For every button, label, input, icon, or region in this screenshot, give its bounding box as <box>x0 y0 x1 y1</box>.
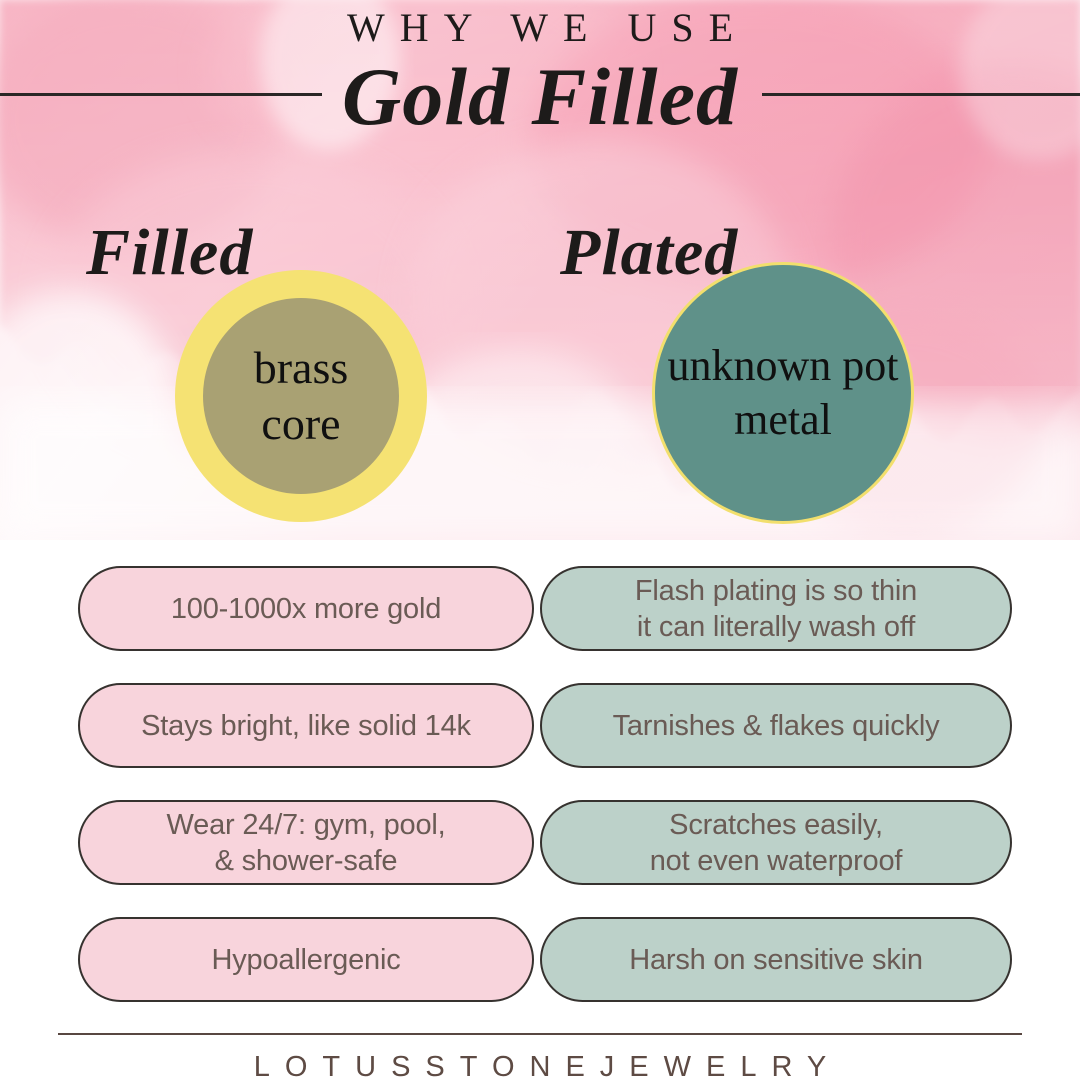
column-label-plated: Plated <box>560 218 738 288</box>
filled-core: brass core <box>203 298 399 494</box>
pill-left-4[interactable]: Hypoallergenic <box>78 917 534 1002</box>
header-title-row: Gold Filled <box>0 52 1080 142</box>
brand-name: LOTUSSTONEJEWELRY <box>0 1050 1080 1080</box>
filled-ring: brass core <box>175 270 427 522</box>
infographic-canvas: WHY WE USE Gold Filled Filled Plated bra… <box>0 0 1080 1080</box>
pill-left-1[interactable]: 100-1000x more gold <box>78 566 534 651</box>
pill-row: Wear 24/7: gym, pool,& shower-safeScratc… <box>0 800 1080 885</box>
pill-left-2[interactable]: Stays bright, like solid 14k <box>78 683 534 768</box>
header-kicker: WHY WE USE <box>0 6 1080 50</box>
page-title: Gold Filled <box>0 52 1080 142</box>
header: WHY WE USE Gold Filled <box>0 0 1080 150</box>
pill-left-3[interactable]: Wear 24/7: gym, pool,& shower-safe <box>78 800 534 885</box>
comparison-circles: Filled Plated brass core unknown pot met… <box>0 200 1080 520</box>
pill-row: 100-1000x more goldFlash plating is so t… <box>0 566 1080 651</box>
pill-right-1[interactable]: Flash plating is so thinit can literally… <box>540 566 1012 651</box>
comparison-pill-list: 100-1000x more goldFlash plating is so t… <box>0 566 1080 1034</box>
pill-row: HypoallergenicHarsh on sensitive skin <box>0 917 1080 1002</box>
plated-core-label: unknown pot metal <box>655 339 911 447</box>
pill-row: Stays bright, like solid 14kTarnishes & … <box>0 683 1080 768</box>
pill-right-2[interactable]: Tarnishes & flakes quickly <box>540 683 1012 768</box>
pill-right-3[interactable]: Scratches easily,not even waterproof <box>540 800 1012 885</box>
footer-divider <box>58 1033 1022 1035</box>
plated-core: unknown pot metal <box>652 262 914 524</box>
filled-core-label: brass core <box>203 340 399 452</box>
column-label-filled: Filled <box>86 218 253 288</box>
pill-right-4[interactable]: Harsh on sensitive skin <box>540 917 1012 1002</box>
footer: LOTUSSTONEJEWELRY <box>0 1020 1080 1080</box>
